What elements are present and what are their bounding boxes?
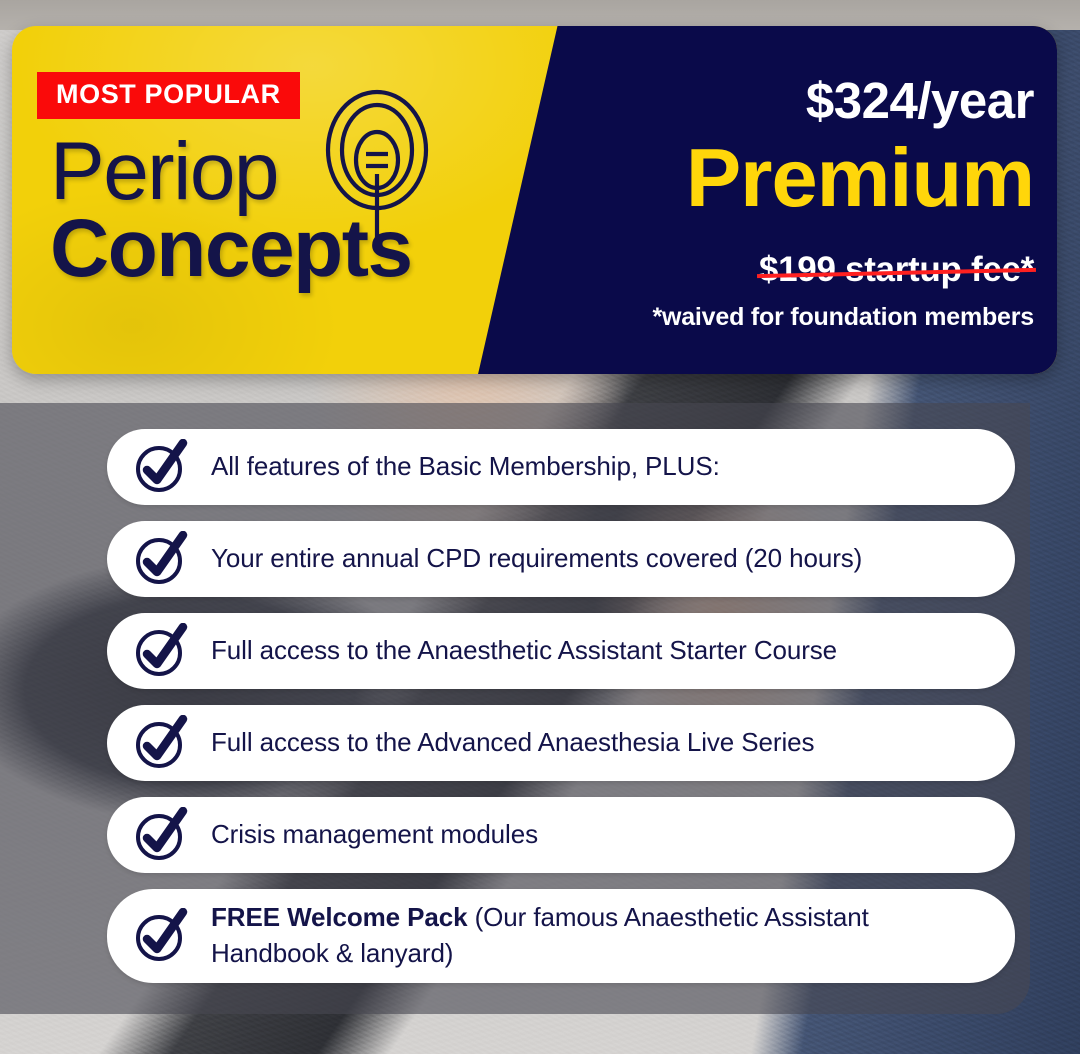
plan-tier-name: Premium bbox=[572, 133, 1034, 223]
check-circle-icon bbox=[133, 439, 189, 495]
pricing-card-page: MOST POPULAR Periop Concepts $324/year P… bbox=[0, 0, 1080, 1054]
check-circle-icon bbox=[133, 715, 189, 771]
tree-leaf-logo-icon bbox=[314, 88, 440, 246]
feature-item-5: Crisis management modules bbox=[107, 797, 1015, 873]
feature-item-1: All features of the Basic Membership, PL… bbox=[107, 429, 1015, 505]
feature-item-label: Full access to the Anaesthetic Assistant… bbox=[211, 633, 837, 669]
fee-waiver-note: *waived for foundation members bbox=[572, 302, 1034, 332]
feature-item-6: FREE Welcome Pack (Our famous Anaestheti… bbox=[107, 889, 1015, 983]
feature-item-label: All features of the Basic Membership, PL… bbox=[211, 449, 720, 485]
feature-item-label: Full access to the Advanced Anaesthesia … bbox=[211, 725, 814, 761]
feature-item-3: Full access to the Anaesthetic Assistant… bbox=[107, 613, 1015, 689]
feature-list: All features of the Basic Membership, PL… bbox=[107, 429, 1015, 999]
check-circle-icon bbox=[133, 439, 189, 495]
check-circle-icon bbox=[133, 623, 189, 679]
check-circle-icon bbox=[133, 531, 189, 587]
feature-item-4: Full access to the Advanced Anaesthesia … bbox=[107, 705, 1015, 781]
price-block: $324/year Premium $199 startup fee* *wai… bbox=[572, 72, 1042, 332]
check-circle-icon bbox=[133, 807, 189, 863]
check-circle-icon bbox=[133, 715, 189, 771]
check-circle-icon bbox=[133, 623, 189, 679]
most-popular-badge-label: MOST POPULAR bbox=[56, 81, 281, 108]
plan-header-card: MOST POPULAR Periop Concepts $324/year P… bbox=[12, 26, 1057, 374]
feature-item-label: FREE Welcome Pack (Our famous Anaestheti… bbox=[211, 900, 989, 972]
feature-item-label: Crisis management modules bbox=[211, 817, 538, 853]
feature-item-label: Your entire annual CPD requirements cove… bbox=[211, 541, 862, 577]
check-circle-icon bbox=[133, 531, 189, 587]
feature-item-label-bold: FREE Welcome Pack bbox=[211, 902, 468, 932]
feature-item-2: Your entire annual CPD requirements cove… bbox=[107, 521, 1015, 597]
price-amount: $324/year bbox=[572, 72, 1034, 129]
check-circle-icon bbox=[133, 908, 189, 964]
check-circle-icon bbox=[133, 807, 189, 863]
startup-fee-wrapper: $199 startup fee* bbox=[759, 251, 1034, 290]
check-circle-icon bbox=[133, 908, 189, 964]
most-popular-badge: MOST POPULAR bbox=[37, 72, 300, 119]
